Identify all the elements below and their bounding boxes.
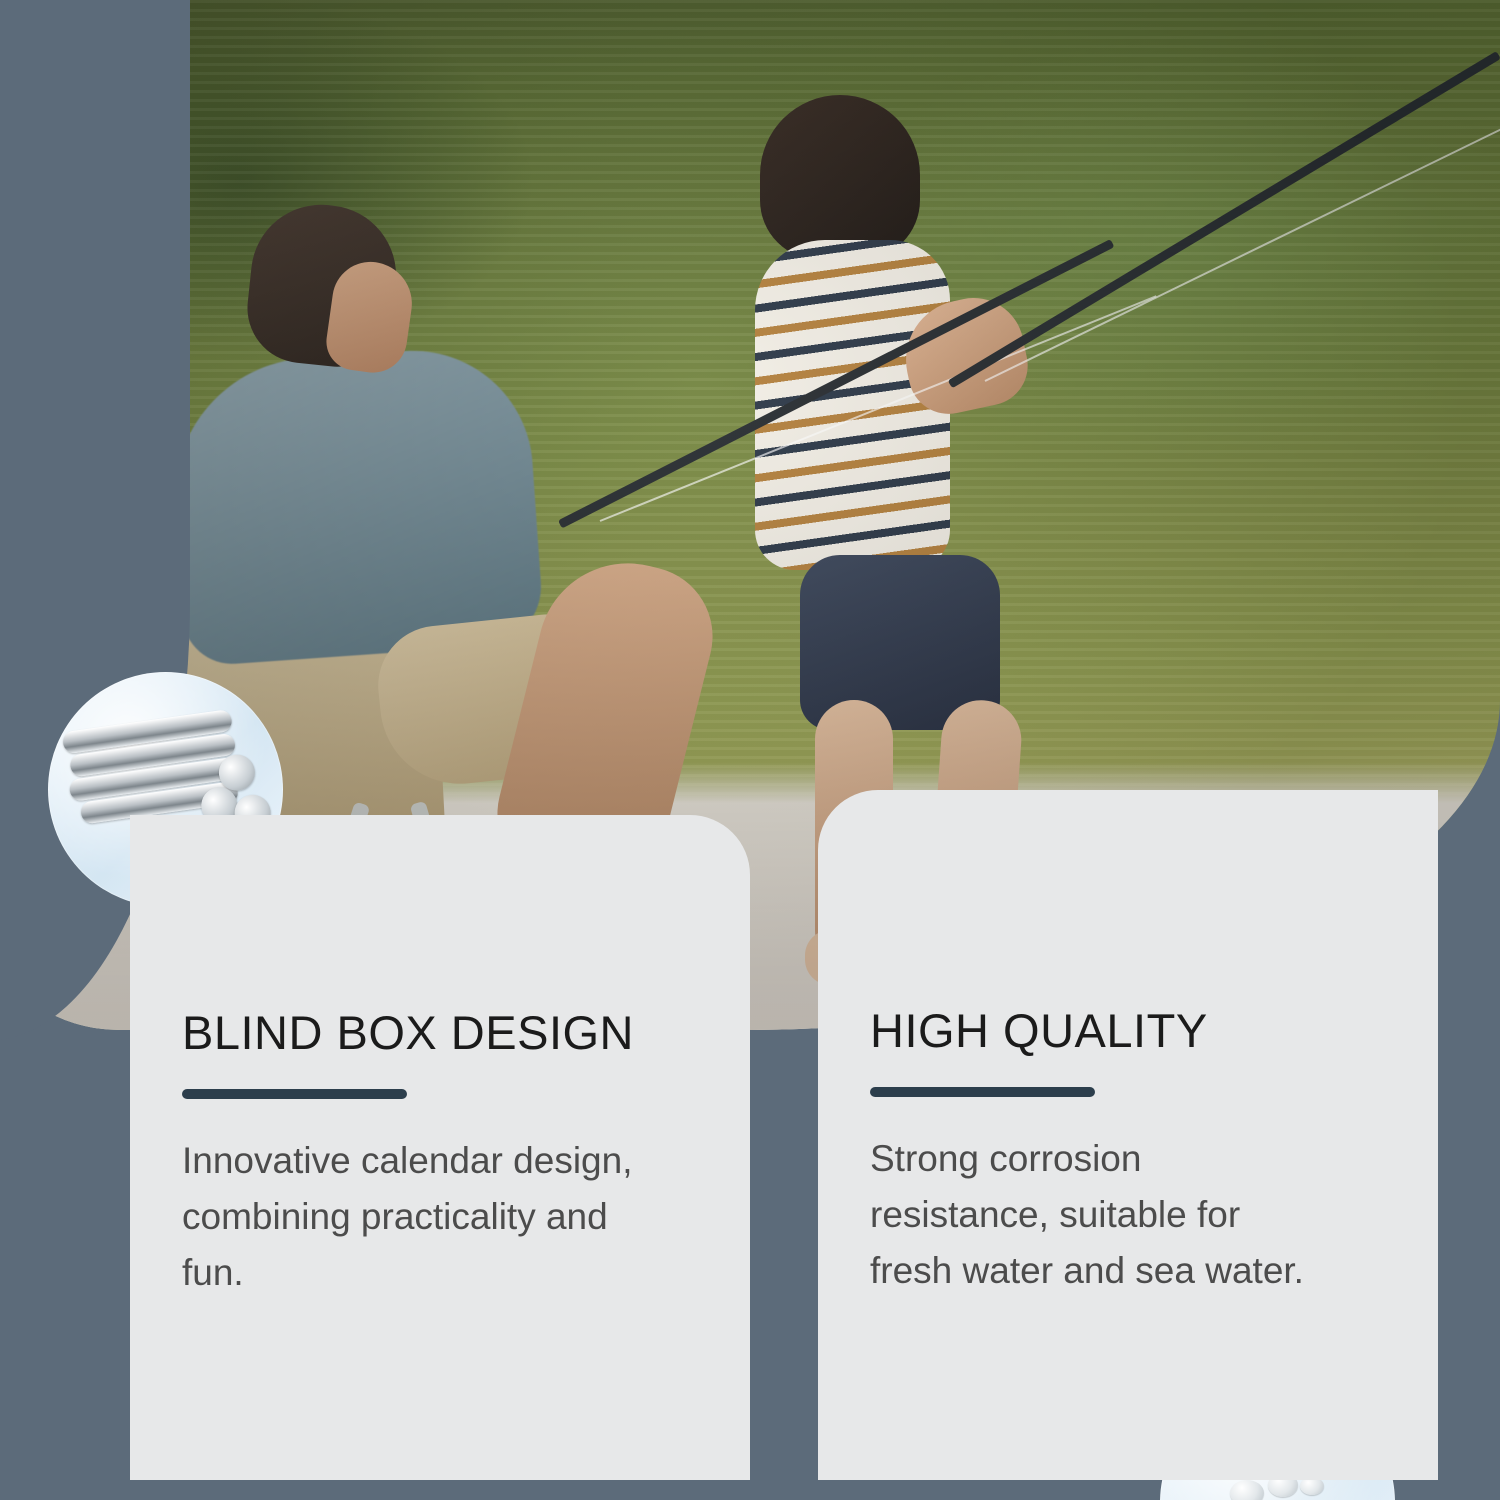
feature-title: BLIND BOX DESIGN [182, 815, 698, 1059]
product-feature-poster: BLIND BOX DESIGN Innovative calendar des… [0, 0, 1500, 1500]
title-underline [870, 1087, 1095, 1097]
feature-body: Innovative calendar design, combining pr… [182, 1133, 642, 1302]
feature-card-blind-box-design: BLIND BOX DESIGN Innovative calendar des… [130, 815, 750, 1480]
feature-body: Strong corrosion resistance, suitable fo… [870, 1131, 1330, 1300]
feature-card-high-quality: HIGH QUALITY Strong corrosion resistance… [818, 790, 1438, 1480]
feature-title: HIGH QUALITY [870, 790, 1386, 1057]
title-underline [182, 1089, 407, 1099]
